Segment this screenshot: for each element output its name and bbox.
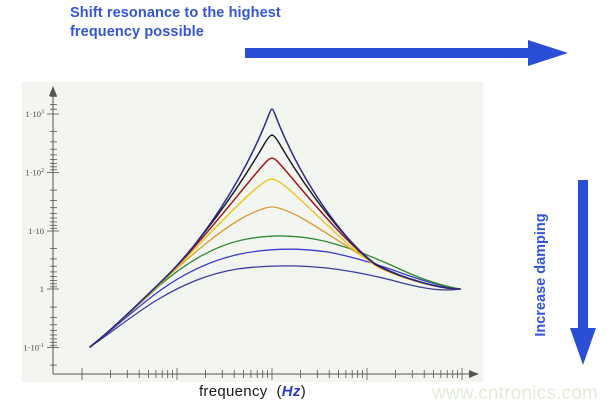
series-damping-4 [90,179,460,347]
svg-text:1·10: 1·10 [28,226,44,236]
series-damping-6 [90,236,460,347]
shift-resonance-arrow-icon [245,40,568,66]
bode-magnitude-chart: 1·103 1·102 1·10 1 1·10-1 [22,82,483,382]
watermark: www.cntronics.com [432,383,598,405]
series-damping-2 [90,135,460,347]
chart-series-group [90,109,460,347]
svg-text:1·10-1: 1·10-1 [23,343,44,353]
page-title-line-1: Shift resonance to the highest [70,4,360,23]
series-damping-3 [90,158,460,347]
axes [49,86,479,378]
svg-text:1: 1 [40,284,44,294]
x-axis-title: frequency (Hz) [22,383,483,400]
svg-text:1·102: 1·102 [25,168,44,178]
x-axis-title-close-paren: ) [301,383,306,400]
series-damping-1-lowest [90,109,460,347]
page-title: Shift resonance to the highest frequency… [70,4,360,42]
increase-damping-label: Increase damping [533,190,553,360]
x-axis-title-unit: Hz [282,383,301,400]
slide-root: Shift resonance to the highest frequency… [0,0,613,412]
chart-canvas: 1·103 1·102 1·10 1 1·10-1 [22,82,483,382]
y-axis-tick-labels: 1·103 1·102 1·10 1 1·10-1 [23,109,44,353]
svg-text:1·103: 1·103 [25,109,44,119]
increase-damping-arrow-icon [570,180,596,365]
x-axis-title-prefix: frequency [199,383,268,400]
